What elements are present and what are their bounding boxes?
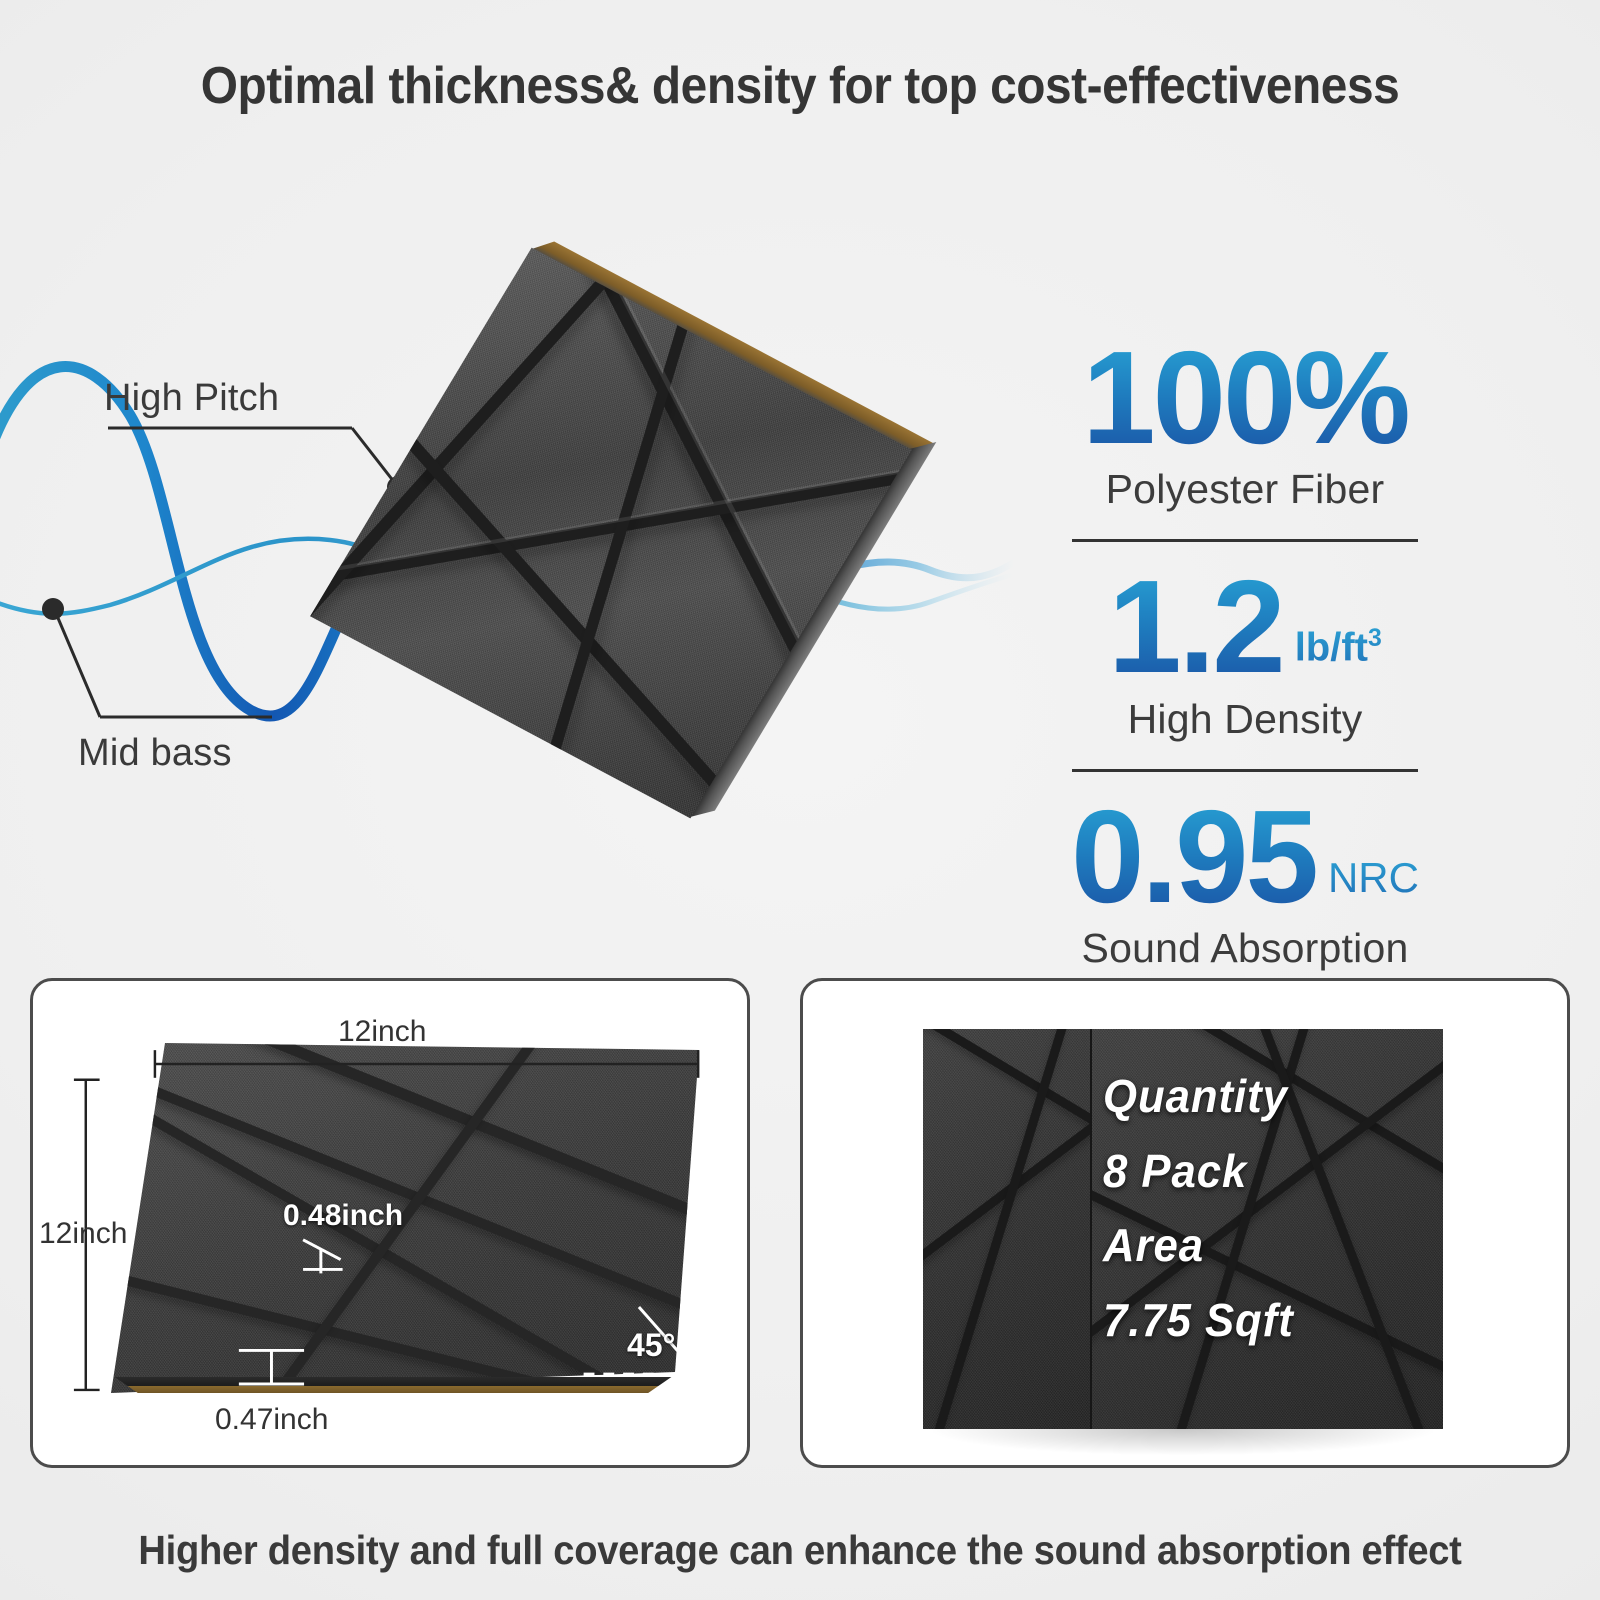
leader-line-mid-bass-hook (55, 611, 100, 717)
pack-reflection-shadow (933, 1429, 1433, 1455)
stat-label-polyester: Polyester Fiber (1010, 466, 1480, 513)
wave-label-mid-bass: Mid bass (78, 732, 232, 775)
page-caption: Higher density and full coverage can enh… (56, 1527, 1544, 1574)
panel-textured-face (310, 248, 912, 819)
stat-unit-density: lb/ft3 (1295, 627, 1382, 689)
stats-divider-2 (1072, 769, 1418, 772)
dim-label-width: 12inch (338, 1015, 426, 1049)
hero-section: High Pitch Mid bass 100% Polyester Fiber (0, 150, 1600, 970)
stat-unit-nrc: NRC (1328, 857, 1419, 919)
dim-label-thickness: 0.47inch (215, 1403, 328, 1437)
wave-point-mid-bass (42, 598, 64, 620)
stat-value-nrc: 0.95 (1071, 794, 1316, 919)
stat-value-polyester: 100% (1082, 335, 1408, 460)
stat-value-density: 1.2 (1108, 564, 1283, 689)
dim-label-angle: 45° (627, 1327, 675, 1364)
angle-arc (676, 1358, 683, 1374)
stat-label-nrc: Sound Absorption (1010, 925, 1480, 972)
stat-density: 1.2 lb/ft3 High Density (1010, 564, 1480, 742)
quantity-card: Quantity 8 Pack Area 7.75 Sqft (800, 978, 1570, 1468)
pack-tile-front (1092, 1029, 1443, 1429)
page-title: Optimal thickness& density for top cost-… (64, 56, 1536, 116)
stat-label-density: High Density (1010, 696, 1480, 743)
stat-polyester-fiber: 100% Polyester Fiber (1010, 335, 1480, 513)
wave-label-high-pitch: High Pitch (104, 377, 279, 420)
stats-column: 100% Polyester Fiber 1.2 lb/ft3 High Den… (1010, 335, 1480, 972)
stat-nrc: 0.95 NRC Sound Absorption (1010, 794, 1480, 972)
stat-unit-superscript: 3 (1368, 625, 1382, 652)
dim-label-height: 12inch (39, 1217, 127, 1251)
acoustic-panel-3d (318, 168, 838, 958)
panel-pack-image (923, 1029, 1443, 1429)
dim-label-groove-depth: 0.48inch (283, 1199, 403, 1233)
dimension-card: 12inch 12inch 0.48inch 0.47inch 45° (30, 978, 750, 1468)
stats-divider-1 (1072, 539, 1418, 542)
pack-tile-back (923, 1029, 1092, 1429)
